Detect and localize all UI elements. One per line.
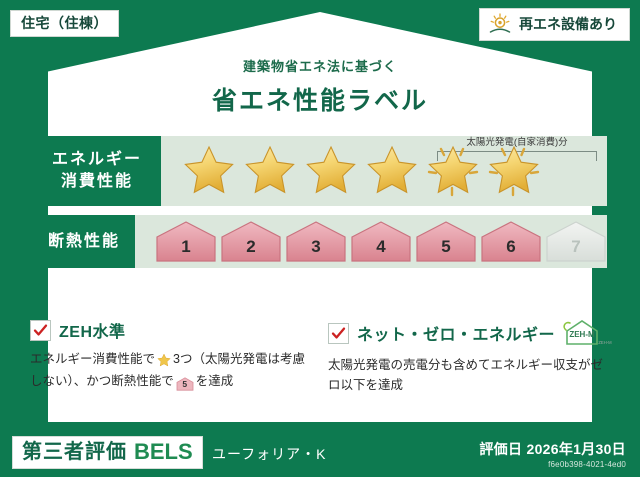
insulation-performance-value: 1234567	[135, 215, 607, 268]
insulation-grade-scale: 1234567	[135, 220, 607, 264]
energy-performance-label: エネルギー 消費性能	[33, 136, 161, 206]
insulation-grade-value: 3	[311, 237, 320, 264]
label-title-block: 建築物省エネ法に基づく 省エネ性能ラベル	[0, 56, 640, 117]
insulation-grade-value: 2	[246, 237, 255, 264]
star-1	[181, 143, 237, 199]
insulation-grade-value: 6	[506, 237, 515, 264]
bels-japanese-label: 第三者評価	[22, 442, 127, 462]
star-5	[425, 143, 481, 199]
building-name: ユーフォリア・K	[212, 444, 327, 464]
bels-badge: 第三者評価 BELS	[12, 436, 203, 469]
insulation-grade-7: 7	[545, 220, 607, 264]
evaluation-date: 評価日 2026年1月30日	[479, 441, 626, 458]
evaluation-date-value: 2026年1月30日	[526, 441, 626, 457]
statement-zeh-title: ZEH水準	[59, 318, 126, 342]
evaluation-date-label: 評価日	[479, 441, 522, 457]
checkbox-net-zero-energy[interactable]	[328, 323, 349, 344]
statement-zeh-body: エネルギー消費性能で3つ（太陽光発電は考慮しない）、かつ断熱性能で5を達成	[30, 349, 310, 392]
insulation-grade-value: 4	[376, 237, 385, 264]
insulation-performance-label: 断熱性能	[33, 215, 135, 268]
statement-zeh-text-1: エネルギー消費性能で	[30, 352, 155, 366]
energy-performance-row: エネルギー 消費性能 太陽光発電(自家消費)分	[33, 136, 607, 206]
inline-grade-badge: 5	[176, 377, 194, 391]
insulation-grade-3: 3	[285, 220, 347, 264]
inline-grade-value: 5	[176, 377, 194, 392]
energy-label-line1: エネルギー	[52, 149, 142, 171]
check-icon	[331, 326, 346, 341]
statement-nze-header: ネット・ゼロ・エネルギー ZEH-M ZEH-M	[328, 318, 610, 348]
label-footer: 第三者評価 BELS ユーフォリア・K 評価日 2026年1月30日 f6e0b…	[0, 427, 640, 477]
insulation-grade-value: 7	[571, 237, 580, 264]
star-3	[303, 143, 359, 199]
statement-zeh-standard: ZEH水準 エネルギー消費性能で3つ（太陽光発電は考慮しない）、かつ断熱性能で5…	[30, 318, 310, 396]
statement-net-zero-energy: ネット・ゼロ・エネルギー ZEH-M ZEH-M 太陽光発電の売電分も含めてエネ…	[328, 318, 610, 396]
checkbox-zeh-standard[interactable]	[30, 320, 51, 341]
label-main-title: 省エネ性能ラベル	[0, 81, 640, 117]
label-subtitle: 建築物省エネ法に基づく	[0, 56, 640, 75]
insulation-grade-2: 2	[220, 220, 282, 264]
dwelling-type-tag: 住宅（住棟）	[10, 10, 119, 37]
svg-text:ZEH-M: ZEH-M	[598, 340, 612, 345]
evaluation-info: 評価日 2026年1月30日 f6e0b398-4021-4ed0	[479, 441, 626, 469]
statement-nze-title: ネット・ゼロ・エネルギー	[357, 321, 555, 345]
renewable-equipment-badge: 再エネ設備あり	[479, 8, 630, 41]
statement-zeh-header: ZEH水準	[30, 318, 310, 342]
insulation-grade-6: 6	[480, 220, 542, 264]
insulation-grade-4: 4	[350, 220, 412, 264]
star-4	[364, 143, 420, 199]
inline-star-icon	[156, 354, 172, 368]
insulation-grade-1: 1	[155, 220, 217, 264]
statement-nze-body: 太陽光発電の売電分も含めてエネルギー収支がゼロ以下を達成	[328, 355, 610, 396]
energy-performance-value: 太陽光発電(自家消費)分	[161, 136, 607, 206]
zeh-m-house-logo: ZEH-M ZEH-M	[563, 318, 613, 348]
evaluation-id: f6e0b398-4021-4ed0	[479, 460, 626, 469]
insulation-grade-5: 5	[415, 220, 477, 264]
bels-english-label: BELS	[134, 441, 193, 463]
energy-label-line2: 消費性能	[61, 171, 133, 193]
statement-zeh-text-3: を達成	[196, 374, 234, 388]
insulation-performance-row: 断熱性能 1234567	[33, 215, 607, 268]
star-6	[486, 143, 542, 199]
energy-performance-label: 住宅（住棟） 再エネ設備あり 建築物省エネ法に基づく 省エネ性能ラベル	[0, 0, 640, 477]
insulation-grade-value: 1	[181, 237, 190, 264]
solar-sun-icon	[488, 13, 512, 35]
star-2	[242, 143, 298, 199]
renewable-badge-label: 再エネ設備あり	[519, 17, 617, 31]
insulation-grade-value: 5	[441, 237, 450, 264]
svg-text:ZEH-M: ZEH-M	[569, 330, 595, 339]
check-icon	[33, 323, 48, 338]
rating-rows: エネルギー 消費性能 太陽光発電(自家消費)分 断熱性能 1234567	[33, 136, 607, 277]
criteria-statements: ZEH水準 エネルギー消費性能で3つ（太陽光発電は考慮しない）、かつ断熱性能で5…	[30, 318, 610, 396]
